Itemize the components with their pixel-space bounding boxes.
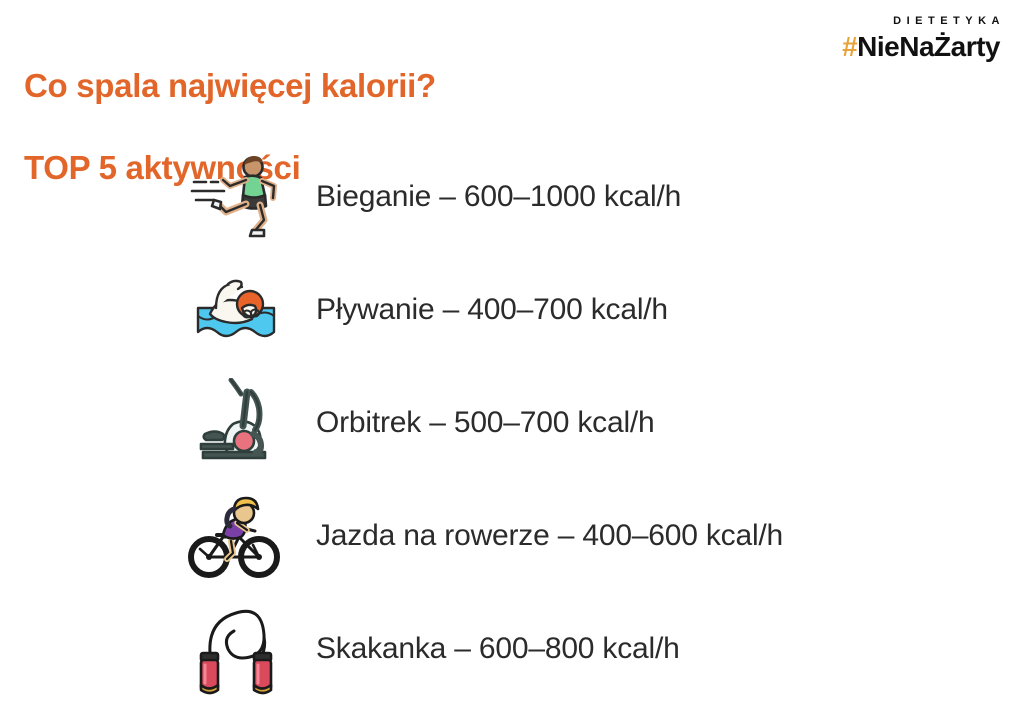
- swimmer-icon: [186, 262, 286, 358]
- brand-name-text: NieNaŻarty: [857, 31, 1000, 62]
- list-item-label: Orbitrek – 500–700 kcal/h: [316, 406, 655, 440]
- list-item-label: Pływanie – 400–700 kcal/h: [316, 293, 668, 327]
- infographic-page: Co spala najwięcej kalorii? TOP 5 aktywn…: [0, 0, 1024, 721]
- cyclist-icon: [186, 488, 286, 584]
- list-item: Pływanie – 400–700 kcal/h: [0, 253, 1024, 366]
- running-person-icon: [186, 149, 286, 245]
- list-item: Orbitrek – 500–700 kcal/h: [0, 366, 1024, 479]
- activity-list: Bieganie – 600–1000 kcal/h: [0, 140, 1024, 705]
- list-item: Bieganie – 600–1000 kcal/h: [0, 140, 1024, 253]
- list-item: Jazda na rowerze – 400–600 kcal/h: [0, 479, 1024, 592]
- list-item-label: Skakanka – 600–800 kcal/h: [316, 632, 680, 666]
- hash-icon: #: [842, 31, 857, 62]
- list-item-label: Bieganie – 600–1000 kcal/h: [316, 180, 681, 214]
- page-title-line-1: Co spala najwięcej kalorii?: [24, 65, 436, 106]
- list-item: Skakanka – 600–800 kcal/h: [0, 592, 1024, 705]
- elliptical-trainer-icon: [186, 375, 286, 471]
- brand-name: #NieNaŻarty: [842, 30, 1000, 64]
- list-item-label: Jazda na rowerze – 400–600 kcal/h: [316, 519, 783, 553]
- jump-rope-icon: [186, 601, 286, 697]
- brand-logo: DIETETYKA #NieNaŻarty: [842, 14, 1000, 64]
- brand-kicker: DIETETYKA: [842, 14, 1005, 28]
